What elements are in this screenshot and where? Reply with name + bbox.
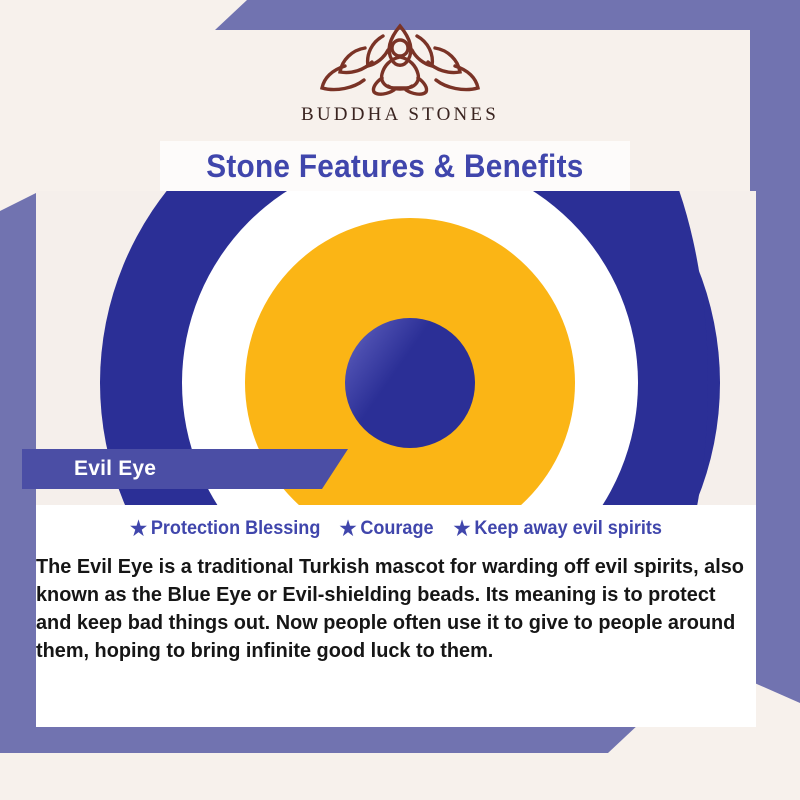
stone-name-label: Evil Eye — [74, 457, 156, 481]
brand-name: BUDDHA STONES — [301, 104, 499, 126]
description-text: The Evil Eye is a traditional Turkish ma… — [36, 553, 754, 665]
lotus-meditation-figure-icon — [310, 18, 490, 100]
star-icon: ★ — [453, 519, 470, 539]
brand-logo: BUDDHA STONES — [0, 18, 800, 143]
benefit-item: ★ Keep away evil spirits — [453, 518, 661, 540]
page-title: Stone Features & Benefits — [206, 148, 583, 185]
benefit-label: Protection Blessing — [150, 518, 320, 540]
benefit-item: ★ Protection Blessing — [130, 518, 320, 540]
stone-name-badge: Evil Eye — [22, 449, 348, 489]
star-icon: ★ — [339, 519, 356, 539]
benefits-list: ★ Protection Blessing ★ Courage ★ Keep a… — [36, 518, 756, 540]
benefit-label: Courage — [360, 518, 433, 540]
frame-bottom-accent — [0, 723, 640, 753]
title-banner: Stone Features & Benefits — [160, 141, 630, 191]
benefit-label: Keep away evil spirits — [474, 518, 662, 540]
star-icon: ★ — [130, 519, 147, 539]
benefit-item: ★ Courage — [339, 518, 433, 540]
infographic-page: BUDDHA STONES Stone Features & Benefits … — [0, 0, 800, 800]
bead-pupil — [345, 318, 475, 448]
